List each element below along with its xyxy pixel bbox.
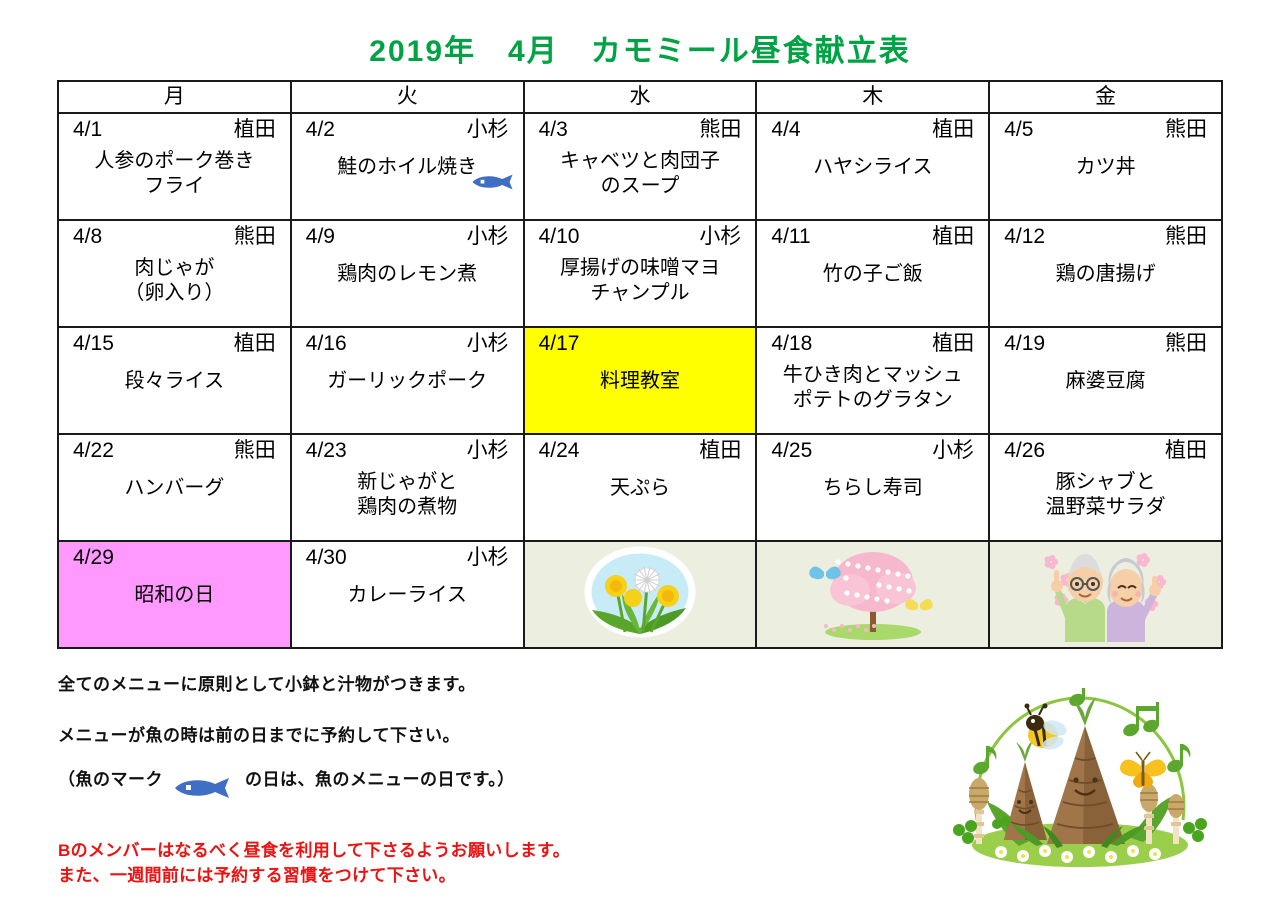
day-staff-name: 植田 xyxy=(932,224,974,250)
day-date: 4/3 xyxy=(539,117,568,143)
day-menu-label: 新じゃがと 鶏肉の煮物 xyxy=(357,471,457,518)
dandelion-illustration xyxy=(555,546,725,642)
day-staff-name: 熊田 xyxy=(699,117,741,143)
day-menu-text: カツ丼 xyxy=(990,143,1221,180)
day-menu-text: 料理教室 xyxy=(525,357,756,394)
day-menu-label: ハンバーグ xyxy=(124,477,224,499)
calendar-day-cell[interactable]: 4/4植田ハヤシライス xyxy=(756,113,989,220)
day-cell-header: 4/23小杉 xyxy=(292,435,523,464)
day-date: 4/17 xyxy=(539,331,580,357)
day-date: 4/2 xyxy=(306,117,335,143)
weekday-header-tue: 火 xyxy=(291,81,524,113)
day-staff-name: 小杉 xyxy=(699,224,741,250)
day-menu-text: 竹の子ご飯 xyxy=(757,250,988,287)
day-date: 4/1 xyxy=(73,117,102,143)
calendar-day-cell[interactable]: 4/11植田竹の子ご飯 xyxy=(756,220,989,327)
note-fish-reservation: メニューが魚の時は前の日までに予約して下さい。 xyxy=(58,723,698,748)
day-menu-label: 豚シャブと 温野菜サラダ xyxy=(1046,471,1166,518)
day-menu-text: ハンバーグ xyxy=(59,464,290,501)
day-menu-text: 麻婆豆腐 xyxy=(990,357,1221,394)
day-staff-name: 小杉 xyxy=(467,117,509,143)
calendar-day-cell[interactable]: 4/24植田天ぷら xyxy=(524,434,757,541)
day-menu-text: 鶏の唐揚げ xyxy=(990,250,1221,287)
day-date: 4/12 xyxy=(1004,224,1045,250)
note-side-dishes: 全てのメニューに原則として小鉢と汁物がつきます。 xyxy=(58,672,698,697)
day-menu-label: 料理教室 xyxy=(600,370,680,392)
day-cell-header: 4/30小杉 xyxy=(292,542,523,571)
day-staff-name: 熊田 xyxy=(234,438,276,464)
day-menu-text: ガーリックポーク xyxy=(292,357,523,394)
calendar-illustration-cell xyxy=(989,541,1222,648)
day-staff-name: 植田 xyxy=(932,331,974,357)
day-menu-label: 牛ひき肉とマッシュ ポテトのグラタン xyxy=(783,364,963,411)
day-date: 4/18 xyxy=(771,331,812,357)
day-menu-label: 竹の子ご飯 xyxy=(823,263,923,285)
calendar-week-row: 4/1植田人参のポーク巻き フライ4/2小杉鮭のホイル焼き4/3熊田キャベツと肉… xyxy=(58,113,1222,220)
day-staff-name: 小杉 xyxy=(467,438,509,464)
menu-calendar-table: 月 火 水 木 金 4/1植田人参のポーク巻き フライ4/2小杉鮭のホイル焼き4… xyxy=(57,80,1223,649)
day-staff-name: 熊田 xyxy=(1165,331,1207,357)
day-cell-header: 4/9小杉 xyxy=(292,221,523,250)
day-staff-name: 小杉 xyxy=(467,545,509,571)
butterfly-icon xyxy=(1120,752,1166,788)
calendar-day-cell[interactable]: 4/26植田豚シャブと 温野菜サラダ xyxy=(989,434,1222,541)
day-staff-name: 植田 xyxy=(1165,438,1207,464)
day-menu-label: キャベツと肉団子 のスープ xyxy=(560,150,720,197)
calendar-day-cell[interactable]: 4/22熊田ハンバーグ xyxy=(58,434,291,541)
day-menu-text: 牛ひき肉とマッシュ ポテトのグラタン xyxy=(757,357,988,413)
elderly-couple-illustration xyxy=(1021,546,1191,642)
day-menu-label: 麻婆豆腐 xyxy=(1066,370,1146,392)
calendar-week-row: 4/8熊田肉じゃが （卵入り）4/9小杉鶏肉のレモン煮4/10小杉厚揚げの味噌マ… xyxy=(58,220,1222,327)
weekday-header-mon: 月 xyxy=(58,81,291,113)
day-cell-header: 4/1植田 xyxy=(59,114,290,143)
note-member-request: Bのメンバーはなるべく昼食を利用して下さるようお願いします。 また、一週間前には… xyxy=(58,838,698,888)
calendar-week-row: 4/22熊田ハンバーグ4/23小杉新じゃがと 鶏肉の煮物4/24植田天ぷら4/2… xyxy=(58,434,1222,541)
day-menu-label: 段々ライス xyxy=(125,370,224,392)
day-cell-header: 4/29 xyxy=(59,542,290,571)
calendar-day-cell[interactable]: 4/3熊田キャベツと肉団子 のスープ xyxy=(524,113,757,220)
calendar-day-cell[interactable]: 4/25小杉ちらし寿司 xyxy=(756,434,989,541)
day-staff-name: 植田 xyxy=(234,117,276,143)
day-cell-header: 4/18植田 xyxy=(757,328,988,357)
day-menu-text: 天ぷら xyxy=(525,464,756,501)
day-menu-label: 鮭のホイル焼き xyxy=(337,156,477,178)
day-cell-header: 4/16小杉 xyxy=(292,328,523,357)
calendar-illustration-cell xyxy=(756,541,989,648)
day-menu-text: キャベツと肉団子 のスープ xyxy=(525,143,756,199)
fish-icon xyxy=(173,752,235,806)
day-menu-text: 豚シャブと 温野菜サラダ xyxy=(990,464,1221,520)
weekday-header-wed: 水 xyxy=(524,81,757,113)
day-cell-header: 4/4植田 xyxy=(757,114,988,143)
calendar-day-cell[interactable]: 4/8熊田肉じゃが （卵入り） xyxy=(58,220,291,327)
calendar-day-cell[interactable]: 4/9小杉鶏肉のレモン煮 xyxy=(291,220,524,327)
calendar-week-row: 4/15植田段々ライス4/16小杉ガーリックポーク4/17料理教室4/18植田牛… xyxy=(58,327,1222,434)
fish-icon xyxy=(471,173,517,198)
day-menu-text: ちらし寿司 xyxy=(757,464,988,501)
day-menu-label: 肉じゃが （卵入り） xyxy=(124,257,224,304)
day-staff-name: 植田 xyxy=(932,117,974,143)
day-menu-label: 人参のポーク巻き フライ xyxy=(94,150,254,197)
calendar-body: 4/1植田人参のポーク巻き フライ4/2小杉鮭のホイル焼き4/3熊田キャベツと肉… xyxy=(58,113,1222,648)
day-cell-header: 4/10小杉 xyxy=(525,221,756,250)
day-menu-text: カレーライス xyxy=(292,571,523,608)
day-menu-label: 天ぷら xyxy=(610,477,670,499)
day-menu-text: 肉じゃが （卵入り） xyxy=(59,250,290,306)
day-cell-header: 4/5熊田 xyxy=(990,114,1221,143)
day-cell-header: 4/11植田 xyxy=(757,221,988,250)
day-menu-text: 鶏肉のレモン煮 xyxy=(292,250,523,287)
day-menu-text: 厚揚げの味噌マヨ チャンプル xyxy=(525,250,756,306)
day-menu-label: ハヤシライス xyxy=(813,156,932,178)
day-cell-header: 4/25小杉 xyxy=(757,435,988,464)
day-staff-name: 熊田 xyxy=(1165,224,1207,250)
note-fish-legend-suffix: の日は、魚のメニューの日です。） xyxy=(245,767,515,792)
day-date: 4/24 xyxy=(539,438,580,464)
day-date: 4/19 xyxy=(1004,331,1045,357)
note-fish-mark-legend: （魚のマーク の日は、魚のメニューの日です。） xyxy=(58,752,698,806)
calendar-day-cell[interactable]: 4/17料理教室 xyxy=(524,327,757,434)
day-cell-header: 4/8熊田 xyxy=(59,221,290,250)
day-date: 4/30 xyxy=(306,545,347,571)
day-menu-text: 昭和の日 xyxy=(59,571,290,608)
day-cell-header: 4/26植田 xyxy=(990,435,1221,464)
calendar-day-cell[interactable]: 4/18植田牛ひき肉とマッシュ ポテトのグラタン xyxy=(756,327,989,434)
day-menu-text: 段々ライス xyxy=(59,357,290,394)
day-menu-label: 昭和の日 xyxy=(134,584,214,606)
calendar-day-cell[interactable]: 4/2小杉鮭のホイル焼き xyxy=(291,113,524,220)
day-date: 4/16 xyxy=(306,331,347,357)
day-date: 4/9 xyxy=(306,224,335,250)
dandelion-illustration xyxy=(525,542,756,647)
calendar-day-cell[interactable]: 4/16小杉ガーリックポーク xyxy=(291,327,524,434)
day-date: 4/25 xyxy=(771,438,812,464)
day-cell-header: 4/2小杉 xyxy=(292,114,523,143)
day-date: 4/10 xyxy=(539,224,580,250)
day-menu-text: 人参のポーク巻き フライ xyxy=(59,143,290,199)
day-menu-text: 新じゃがと 鶏肉の煮物 xyxy=(292,464,523,520)
page-title: 2019年 4月 カモミール昼食献立表 xyxy=(0,0,1280,70)
cherry-blossom-tree-illustration xyxy=(788,546,958,642)
day-cell-header: 4/17 xyxy=(525,328,756,357)
day-date: 4/15 xyxy=(73,331,114,357)
calendar-day-cell[interactable]: 4/1植田人参のポーク巻き フライ xyxy=(58,113,291,220)
day-menu-label: カツ丼 xyxy=(1076,156,1136,178)
day-menu-label: 厚揚げの味噌マヨ チャンプル xyxy=(560,257,720,304)
day-staff-name: 小杉 xyxy=(467,331,509,357)
day-date: 4/8 xyxy=(73,224,102,250)
day-date: 4/22 xyxy=(73,438,114,464)
day-staff-name: 小杉 xyxy=(467,224,509,250)
calendar-day-cell[interactable]: 4/23小杉新じゃがと 鶏肉の煮物 xyxy=(291,434,524,541)
day-date: 4/4 xyxy=(771,117,800,143)
day-cell-header: 4/19熊田 xyxy=(990,328,1221,357)
day-menu-label: ガーリックポーク xyxy=(327,370,487,392)
day-menu-label: ちらし寿司 xyxy=(823,477,923,499)
day-cell-header: 4/24植田 xyxy=(525,435,756,464)
footer-notes: 全てのメニューに原則として小鉢と汁物がつきます。 メニューが魚の時は前の日までに… xyxy=(58,672,698,888)
elderly-couple-illustration xyxy=(990,542,1221,647)
day-staff-name: 植田 xyxy=(699,438,741,464)
day-cell-header: 4/22熊田 xyxy=(59,435,290,464)
weekday-header-thu: 木 xyxy=(756,81,989,113)
calendar-day-cell[interactable]: 4/10小杉厚揚げの味噌マヨ チャンプル xyxy=(524,220,757,327)
day-menu-label: カレーライス xyxy=(347,584,466,606)
calendar-week-row: 4/29昭和の日4/30小杉カレーライス xyxy=(58,541,1222,648)
day-date: 4/5 xyxy=(1004,117,1033,143)
calendar-day-cell[interactable]: 4/29昭和の日 xyxy=(58,541,291,648)
day-staff-name: 植田 xyxy=(234,331,276,357)
day-staff-name: 熊田 xyxy=(234,224,276,250)
calendar-day-cell[interactable]: 4/5熊田カツ丼 xyxy=(989,113,1222,220)
day-cell-header: 4/15植田 xyxy=(59,328,290,357)
weekday-header-row: 月 火 水 木 金 xyxy=(58,81,1222,113)
weekday-header-fri: 金 xyxy=(989,81,1222,113)
day-date: 4/29 xyxy=(73,545,114,571)
day-date: 4/11 xyxy=(771,224,810,250)
cherry-blossom-tree-illustration xyxy=(757,542,988,647)
day-staff-name: 小杉 xyxy=(932,438,974,464)
day-menu-text: 鮭のホイル焼き xyxy=(292,143,523,180)
day-staff-name: 熊田 xyxy=(1165,117,1207,143)
day-cell-header: 4/12熊田 xyxy=(990,221,1221,250)
note-fish-legend-prefix: （魚のマーク xyxy=(58,767,163,792)
calendar-day-cell[interactable]: 4/12熊田鶏の唐揚げ xyxy=(989,220,1222,327)
calendar-illustration-cell xyxy=(524,541,757,648)
day-cell-header: 4/3熊田 xyxy=(525,114,756,143)
day-date: 4/26 xyxy=(1004,438,1045,464)
calendar-day-cell[interactable]: 4/19熊田麻婆豆腐 xyxy=(989,327,1222,434)
day-menu-label: 鶏肉のレモン煮 xyxy=(337,263,477,285)
day-date: 4/23 xyxy=(306,438,347,464)
bamboo-shoots-illustration xyxy=(935,688,1225,878)
calendar-day-cell[interactable]: 4/15植田段々ライス xyxy=(58,327,291,434)
calendar-day-cell[interactable]: 4/30小杉カレーライス xyxy=(291,541,524,648)
day-menu-label: 鶏の唐揚げ xyxy=(1056,263,1156,285)
day-menu-text: ハヤシライス xyxy=(757,143,988,180)
